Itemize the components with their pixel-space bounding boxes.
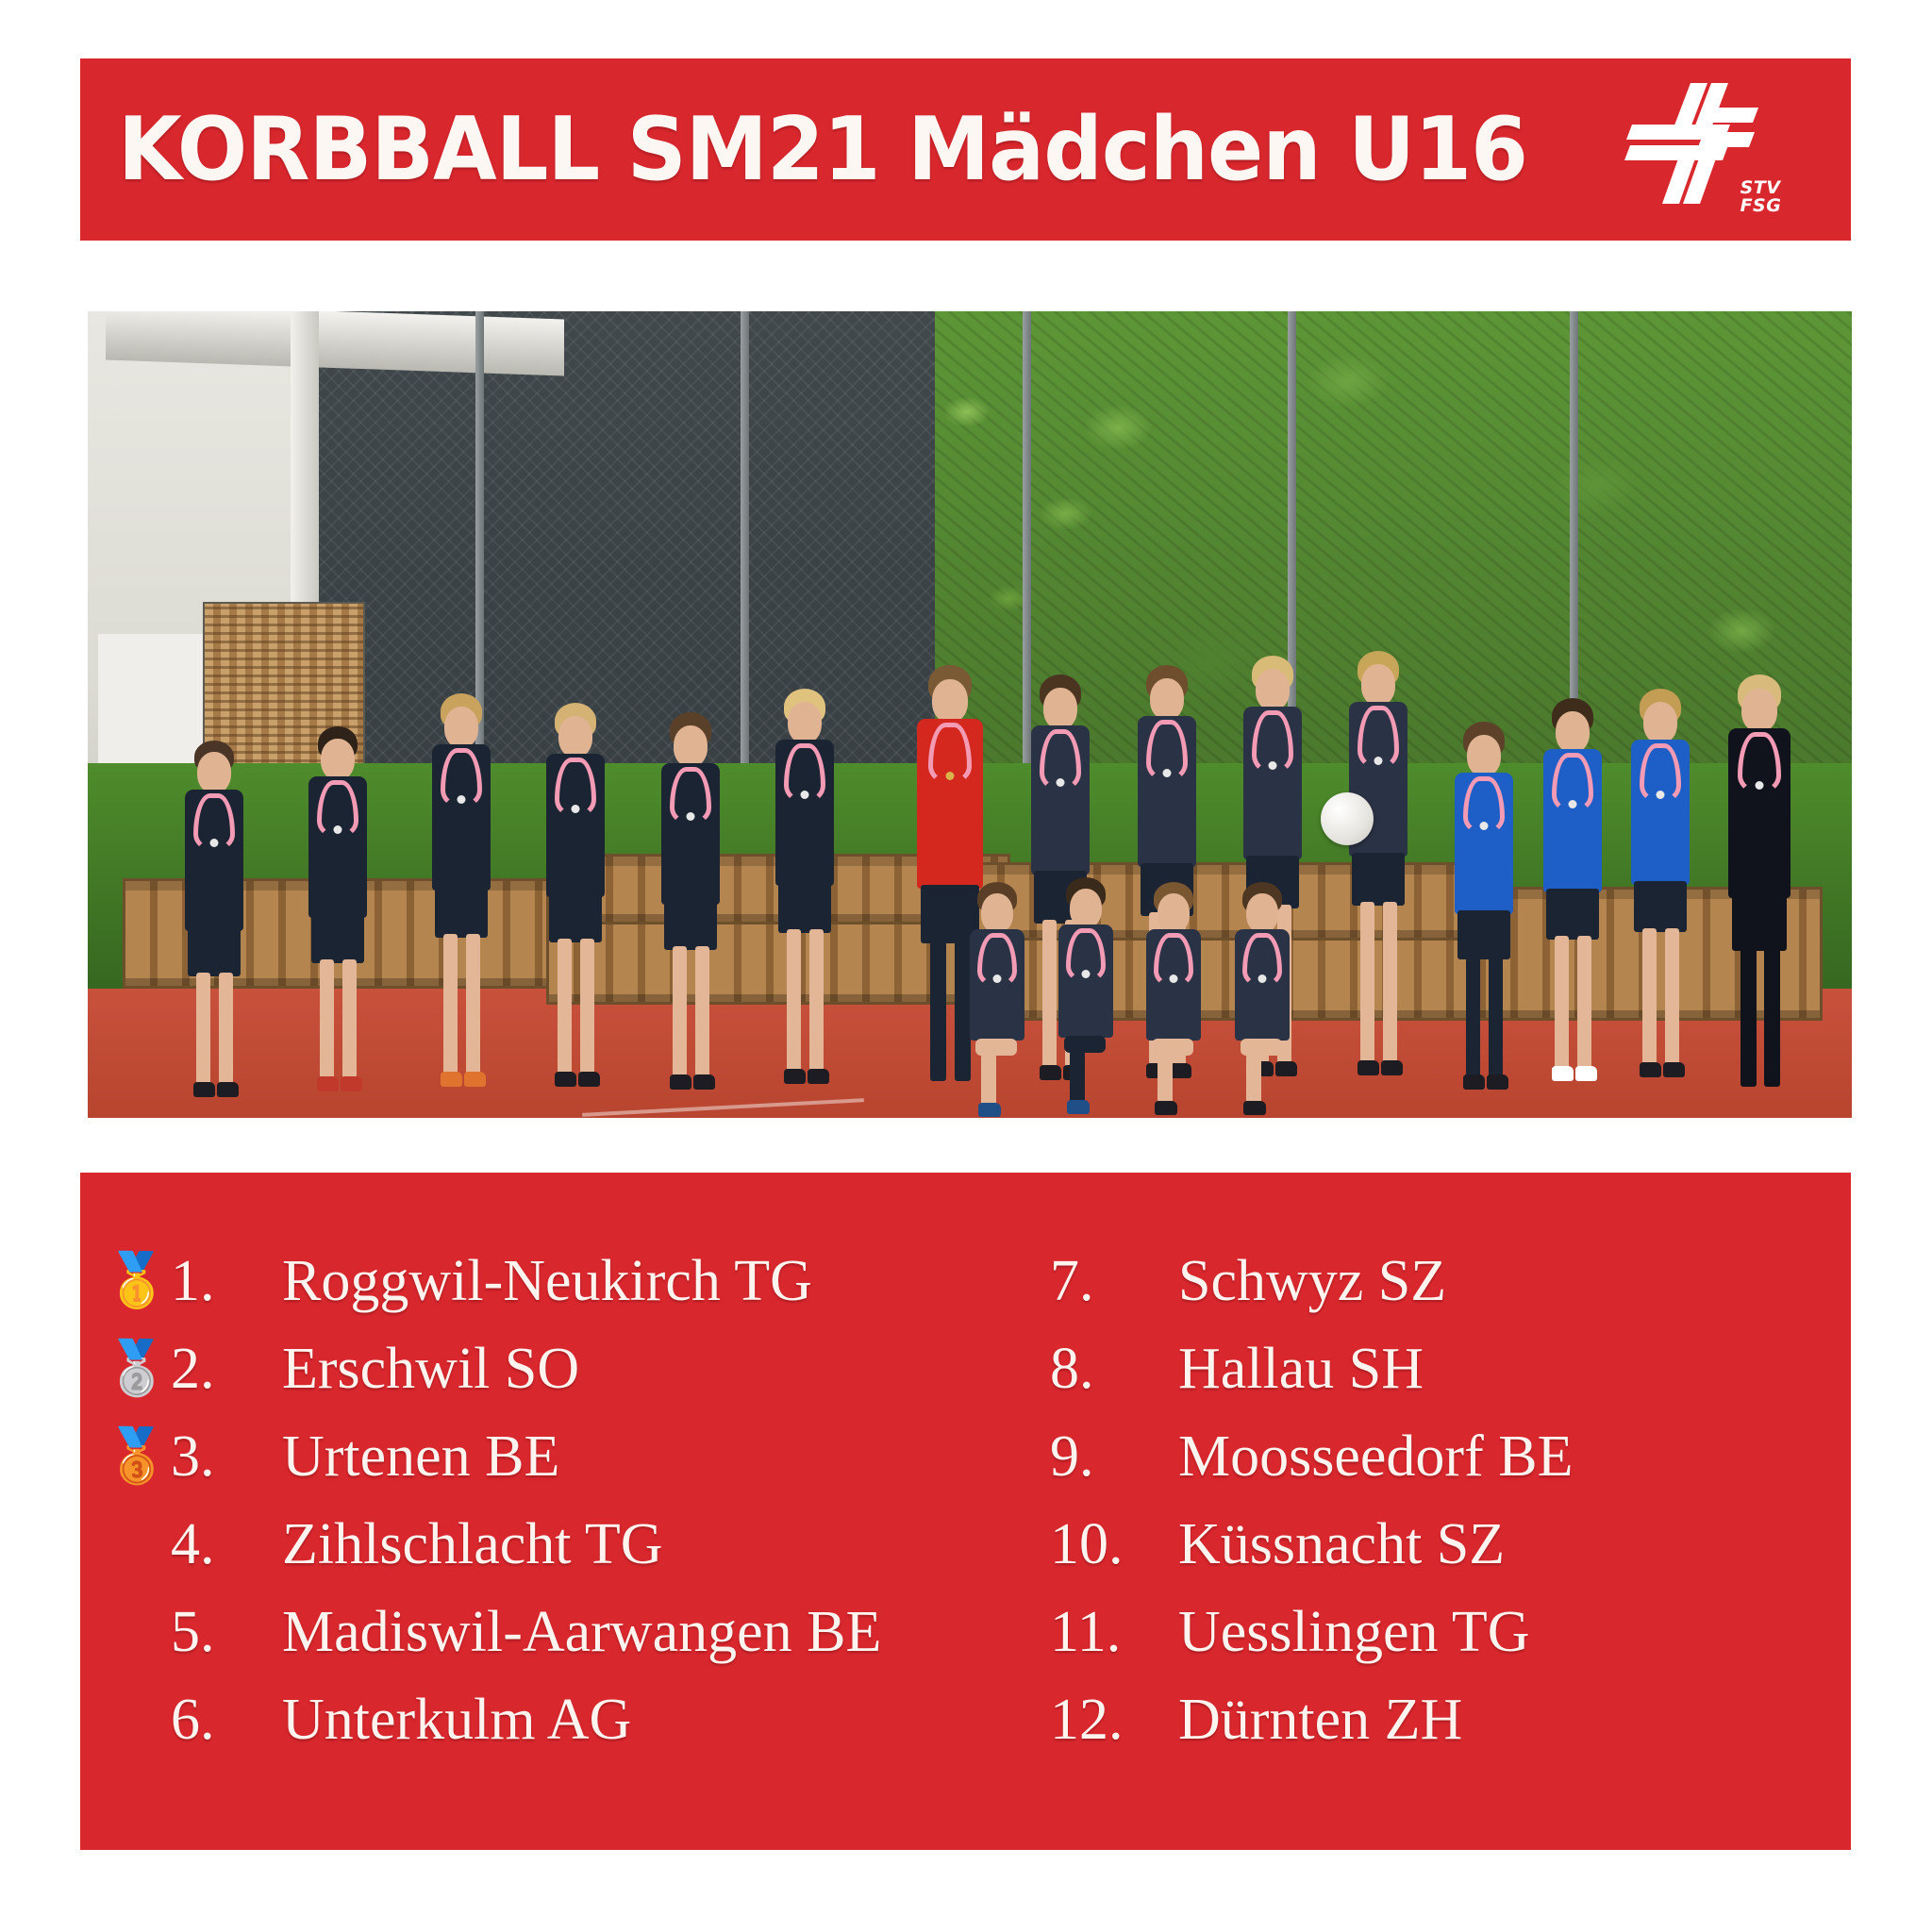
rank-number: 8.: [1050, 1340, 1178, 1398]
ranking-row-2: 🥈 2. Erschwil SO: [80, 1324, 1033, 1412]
header-bar: KORBBALL SM21 Mädchen U16 STV FSG: [80, 58, 1851, 241]
ranking-row-8: 8. Hallau SH: [1033, 1324, 1851, 1412]
ranking-row-9: 9. Moosseedorf BE: [1033, 1412, 1851, 1500]
ranking-row-10: 10. Küssnacht SZ: [1033, 1500, 1851, 1588]
bronze-medal-icon: 🥉: [103, 1430, 171, 1483]
ranking-row-5: 5. Madiswil-Aarwangen BE: [80, 1588, 1033, 1675]
team-name: Urtenen BE: [282, 1427, 559, 1486]
team-name: Küssnacht SZ: [1178, 1515, 1505, 1574]
team-name: Zihlschlacht TG: [282, 1515, 662, 1574]
ranking-row-4: 4. Zihlschlacht TG: [80, 1500, 1033, 1588]
ranking-row-1: 🥇 1. Roggwil-Neukirch TG: [80, 1237, 1033, 1324]
rank-number: 7.: [1050, 1252, 1178, 1310]
ranking-column-left: 🥇 1. Roggwil-Neukirch TG 🥈 2. Erschwil S…: [80, 1237, 1033, 1763]
stv-fsg-logo: STV FSG: [1617, 79, 1787, 221]
ranking-row-12: 12. Dürnten ZH: [1033, 1675, 1851, 1763]
team-name: Dürnten ZH: [1178, 1690, 1462, 1749]
seated-athlete-figure: [1235, 882, 1290, 1118]
team-name: Unterkulm AG: [282, 1690, 631, 1749]
team-name: Madiswil-Aarwangen BE: [282, 1603, 881, 1661]
ranking-row-3: 🥉 3. Urtenen BE: [80, 1412, 1033, 1500]
team-name: Roggwil-Neukirch TG: [282, 1252, 812, 1310]
team-name: Erschwil SO: [282, 1340, 579, 1398]
rank-number: 11.: [1050, 1603, 1178, 1661]
athlete-figure: [661, 712, 720, 1118]
logo-caption-fsg: FSG: [1740, 197, 1782, 215]
logo-caption: STV FSG: [1740, 179, 1782, 215]
ranking-row-7: 7. Schwyz SZ: [1033, 1237, 1851, 1324]
gold-medal-icon: 🥇: [103, 1255, 171, 1307]
rank-number: 1.: [171, 1252, 282, 1310]
seated-athlete-figure: [970, 882, 1024, 1118]
fence-pole: [741, 311, 749, 827]
rank-number: 6.: [171, 1690, 282, 1749]
team-name: Uesslingen TG: [1178, 1603, 1530, 1661]
coach-figure-black-jacket: [1728, 675, 1790, 1118]
ranking-grid: 🥇 1. Roggwil-Neukirch TG 🥈 2. Erschwil S…: [80, 1237, 1851, 1763]
logo-caption-stv: STV: [1740, 179, 1782, 197]
ranking-row-6: 6. Unterkulm AG: [80, 1675, 1033, 1763]
rank-number: 9.: [1050, 1427, 1178, 1486]
podium-group-photo: [88, 311, 1852, 1118]
seated-athlete-figure: [1146, 882, 1201, 1118]
athlete-figure: [775, 689, 834, 1118]
rank-number: 10.: [1050, 1515, 1178, 1574]
ranking-column-right: 7. Schwyz SZ 8. Hallau SH 9. Moosseedorf…: [1033, 1237, 1851, 1763]
rank-number: 4.: [171, 1515, 282, 1574]
page-title: KORBBALL SM21 Mädchen U16: [118, 106, 1527, 193]
rank-number: 3.: [171, 1427, 282, 1486]
rank-number: 2.: [171, 1340, 282, 1398]
team-name: Hallau SH: [1178, 1340, 1424, 1398]
athlete-figure: [1455, 722, 1513, 1118]
athlete-figure: [546, 703, 605, 1118]
rank-number: 5.: [171, 1603, 282, 1661]
team-name: Moosseedorf BE: [1178, 1427, 1573, 1486]
fence-pole: [1023, 311, 1031, 827]
ranking-panel: 🥇 1. Roggwil-Neukirch TG 🥈 2. Erschwil S…: [80, 1173, 1851, 1850]
korbball-ball: [1321, 792, 1374, 845]
athlete-figure: [432, 693, 491, 1118]
seated-athlete-figure: [1058, 877, 1113, 1118]
rank-number: 12.: [1050, 1690, 1178, 1749]
silver-medal-icon: 🥈: [103, 1342, 171, 1395]
athlete-figure-with-ball: [1349, 651, 1407, 1118]
team-name: Schwyz SZ: [1178, 1252, 1446, 1310]
athlete-figure: [1543, 698, 1602, 1118]
athlete-figure: [308, 726, 367, 1118]
athlete-figure: [185, 741, 243, 1118]
athlete-figure: [1631, 689, 1690, 1118]
ranking-row-11: 11. Uesslingen TG: [1033, 1588, 1851, 1675]
